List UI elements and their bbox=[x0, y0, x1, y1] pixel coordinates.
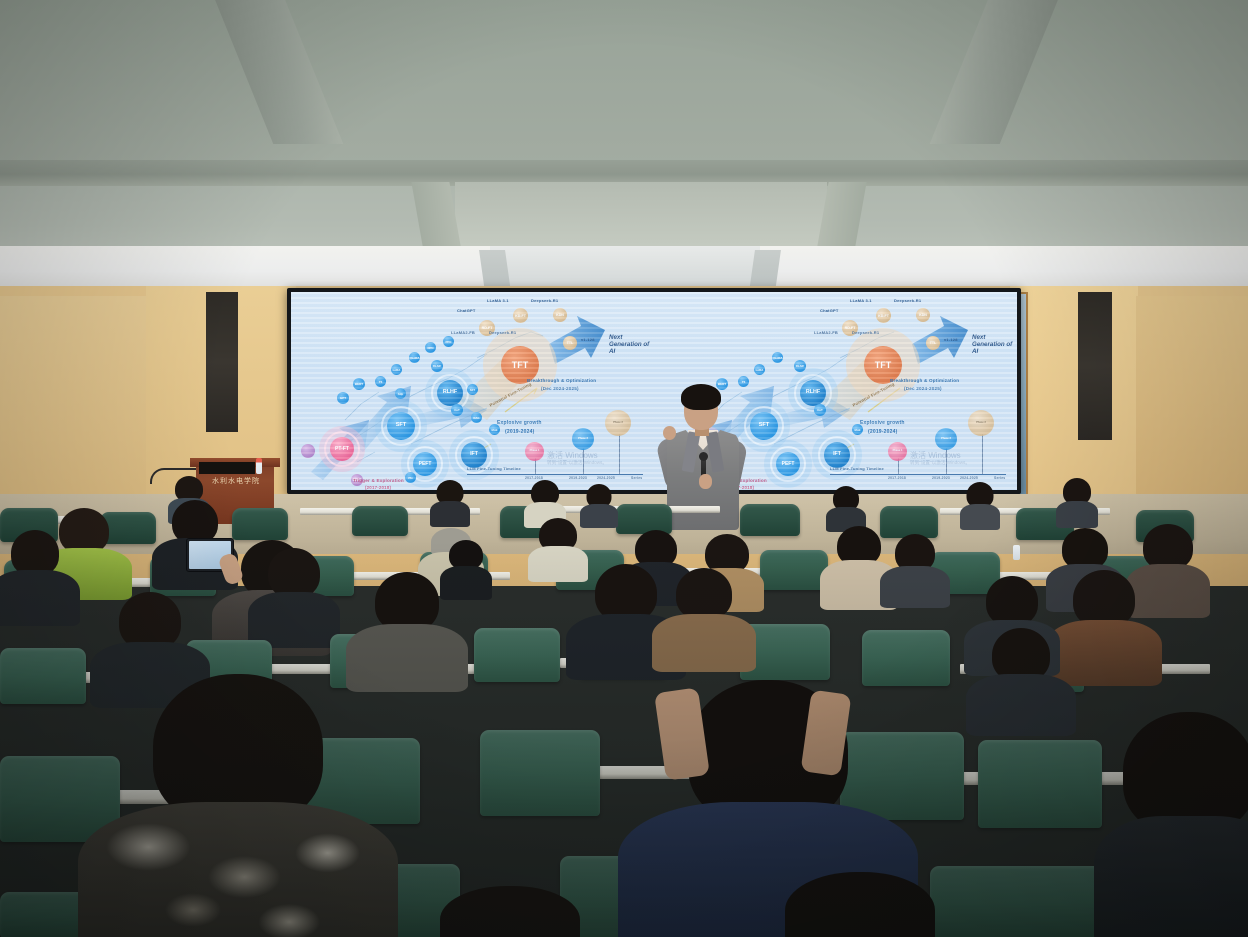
ceiling-upper-plane bbox=[0, 0, 1248, 168]
timeline-bubble-1-right[interactable]: Phase 1 bbox=[888, 442, 907, 461]
label-deepseek-r1b: Deepseek-R1 bbox=[489, 330, 516, 335]
list-item bbox=[966, 628, 1076, 728]
node-dpo[interactable]: DPO bbox=[425, 342, 436, 353]
node-kd-ft[interactable]: KD-FT bbox=[513, 308, 528, 323]
timeline-axis bbox=[467, 474, 643, 475]
node-peft-right[interactable]: PEFT bbox=[776, 452, 800, 476]
node-ttl[interactable]: TTL bbox=[563, 336, 577, 350]
projection-screen[interactable]: TFT Potential Fine-Tuning RD-FT KD-FT KD… bbox=[291, 292, 1017, 490]
timeline-stem-3-right bbox=[982, 434, 983, 474]
node-sft[interactable]: SFT bbox=[387, 412, 415, 440]
presenter-hair bbox=[681, 384, 721, 410]
label-v1-128: v1-128 bbox=[581, 337, 595, 342]
phase3-period-right: (Dec 2024-2025) bbox=[904, 386, 942, 391]
list-item bbox=[826, 486, 866, 530]
label-chatgpt-right: ChatGPT bbox=[820, 308, 839, 313]
seat[interactable] bbox=[352, 506, 408, 536]
node-rlhf[interactable]: RLHF bbox=[437, 380, 463, 406]
lecture-hall-photo: TFT Potential Fine-Tuning RD-FT KD-FT KD… bbox=[0, 0, 1248, 937]
next-generation-label: Next Generation of AI bbox=[609, 334, 654, 355]
timeline-caption-right: LLM Fine-Tuning Timeline bbox=[830, 466, 884, 471]
timeline-tick-2-right: 2019-2023 bbox=[932, 476, 950, 480]
list-item bbox=[1094, 712, 1248, 937]
phase3-name-right: Breakthrough & Optimization bbox=[890, 378, 959, 383]
seat[interactable] bbox=[232, 508, 288, 540]
label-llama2fb: LLaMA2-FB bbox=[451, 330, 475, 335]
phase3-period: (Dec 2024-2025) bbox=[541, 386, 579, 391]
node-rlaif-right[interactable]: RLAIF bbox=[794, 360, 806, 372]
list-item bbox=[346, 572, 468, 682]
next-generation-label-right: Next Generation of AI bbox=[972, 334, 1017, 355]
node-rlaif[interactable]: RLAIF bbox=[431, 360, 443, 372]
node-adapter[interactable]: Adp bbox=[395, 388, 406, 399]
timeline-tick-4-right: Series bbox=[994, 476, 1005, 480]
wall-accent-panel-left bbox=[206, 292, 238, 432]
node-bert[interactable]: BERT bbox=[353, 378, 365, 390]
slide-half-left: TFT Potential Fine-Tuning RD-FT KD-FT KD… bbox=[291, 292, 654, 490]
list-item bbox=[960, 482, 1000, 528]
label-llama31-right: LLaMA 3.1 bbox=[850, 298, 872, 303]
timeline-axis-right bbox=[830, 474, 1006, 475]
node-qlora-right[interactable]: QLoRA bbox=[772, 352, 783, 363]
timeline-caption: LLM Fine-Tuning Timeline bbox=[467, 466, 521, 471]
node-peft[interactable]: PEFT bbox=[413, 452, 437, 476]
node-lora[interactable]: LoRA bbox=[391, 364, 402, 375]
node-lilac-left[interactable] bbox=[301, 444, 315, 458]
ceiling-recess bbox=[455, 182, 827, 254]
seat[interactable] bbox=[740, 504, 800, 536]
seat[interactable] bbox=[978, 740, 1102, 828]
person-in-camouflage-jacket bbox=[78, 674, 398, 937]
node-cot[interactable]: CoT bbox=[451, 404, 463, 416]
node-ift-right[interactable]: IFT bbox=[824, 442, 850, 468]
list-item bbox=[248, 548, 340, 640]
node-ppo[interactable]: PPO bbox=[443, 336, 454, 347]
lectern-label: 水利水电学院 bbox=[200, 476, 272, 486]
presenter-mic-hand bbox=[699, 474, 712, 489]
list-item bbox=[880, 534, 950, 600]
timeline-tick-2: 2019-2023 bbox=[569, 476, 587, 480]
seat[interactable] bbox=[480, 730, 600, 816]
label-llama2fb-right: LLaMA2-FB bbox=[814, 330, 838, 335]
timeline-bubble-3-right[interactable]: Phase 3 bbox=[968, 410, 994, 436]
wall-accent-panel-right bbox=[1078, 292, 1112, 440]
seat[interactable] bbox=[862, 630, 950, 686]
seat[interactable] bbox=[474, 628, 560, 682]
phase2-name: Explosive growth bbox=[497, 420, 542, 426]
list-item bbox=[1056, 478, 1098, 526]
timeline-bubble-2-right[interactable]: Phase 2 bbox=[935, 428, 957, 450]
node-kd-ft-right[interactable]: KD-FT bbox=[876, 308, 891, 323]
node-kdn[interactable]: KDN bbox=[553, 308, 567, 322]
timeline-bubble-1[interactable]: Phase 1 bbox=[525, 442, 544, 461]
node-ttl-right[interactable]: TTL bbox=[926, 336, 940, 350]
node-sft-small[interactable]: SFT bbox=[467, 384, 478, 395]
label-llama31: LLaMA 3.1 bbox=[487, 298, 509, 303]
list-item bbox=[652, 568, 756, 664]
node-cot-right[interactable]: CoT bbox=[814, 404, 826, 416]
timeline-tick-4: Series bbox=[631, 476, 642, 480]
list-item bbox=[430, 480, 470, 524]
label-deepseek-r1a-right: Deepseek-R1 bbox=[894, 298, 921, 303]
node-gpt[interactable]: GPT bbox=[337, 392, 349, 404]
wall-panel-left-far bbox=[0, 296, 148, 526]
seat[interactable] bbox=[760, 550, 828, 590]
node-kdn-right[interactable]: KDN bbox=[916, 308, 930, 322]
seat[interactable] bbox=[0, 648, 86, 704]
microphone-head-icon bbox=[699, 452, 708, 461]
list-item bbox=[420, 886, 600, 937]
node-qlora[interactable]: QLoRA bbox=[409, 352, 420, 363]
node-ift[interactable]: IFT bbox=[461, 442, 487, 468]
phase2-name-right: Explosive growth bbox=[860, 420, 905, 426]
timeline-bubble-3[interactable]: Phase 3 bbox=[605, 410, 631, 436]
phase1-period: (2017-2018) bbox=[365, 485, 391, 490]
phase2-period: (2019-2024) bbox=[505, 429, 534, 435]
phase3-name: Breakthrough & Optimization bbox=[527, 378, 596, 383]
node-lora-right[interactable]: LoRA bbox=[754, 364, 765, 375]
node-rag[interactable]: RAG bbox=[471, 412, 482, 423]
label-v1-128-right: v1-128 bbox=[944, 337, 958, 342]
timeline-tick-1-right: 2017-2018 bbox=[888, 476, 906, 480]
timeline-tick-3-right: 2024-2025 bbox=[960, 476, 978, 480]
windows-watermark-line2: 转到"设置"以激活 Windows。 bbox=[547, 460, 607, 466]
phase2-period-right: (2019-2024) bbox=[868, 429, 897, 435]
node-rlhf-right[interactable]: RLHF bbox=[800, 380, 826, 406]
label-deepseek-r1a: Deepseek-R1 bbox=[531, 298, 558, 303]
soffit-recess bbox=[490, 246, 760, 286]
node-t5[interactable]: T5 bbox=[375, 376, 386, 387]
timeline-stem-3 bbox=[619, 434, 620, 474]
windows-watermark-line2-right: 转到"设置"以激活 Windows。 bbox=[910, 460, 970, 466]
node-ptft[interactable]: PT-FT bbox=[330, 437, 354, 461]
timeline-tick-3: 2024-2025 bbox=[597, 476, 615, 480]
water-bottle-lectern[interactable] bbox=[256, 458, 262, 474]
water-bottle-desk[interactable] bbox=[1013, 545, 1020, 560]
presenter-gesturing-hand bbox=[663, 426, 676, 440]
phase1-name: Trigger & Exploration bbox=[353, 478, 404, 483]
node-prefix[interactable]: Pfx bbox=[405, 472, 416, 483]
timeline-bubble-2[interactable]: Phase 2 bbox=[572, 428, 594, 450]
node-sft-right[interactable]: SFT bbox=[750, 412, 778, 440]
list-item bbox=[0, 530, 80, 620]
list-item bbox=[760, 872, 960, 937]
label-deepseek-r1b-right: Deepseek-R1 bbox=[852, 330, 879, 335]
label-chatgpt: ChatGPT bbox=[457, 308, 476, 313]
lectern-monitor[interactable] bbox=[199, 462, 255, 474]
